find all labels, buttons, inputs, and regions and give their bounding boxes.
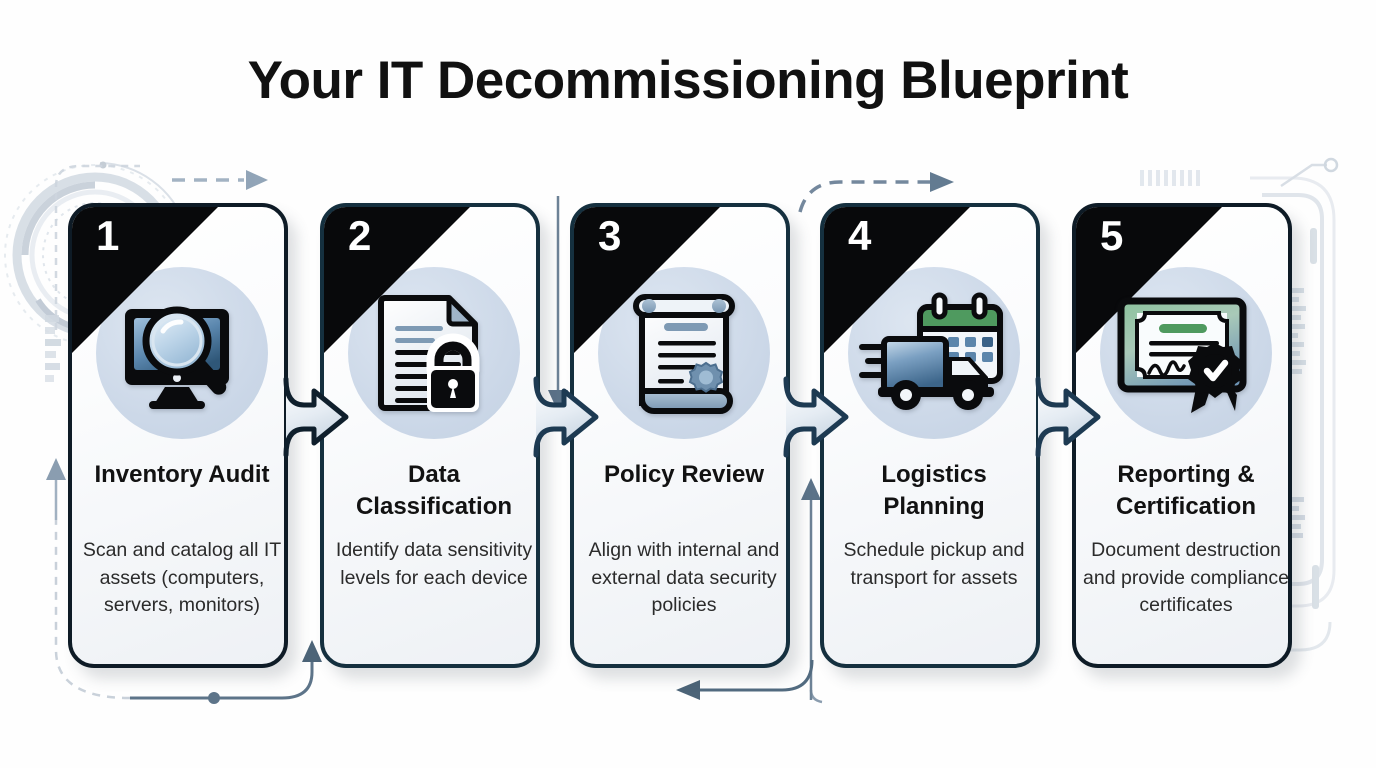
scroll-seal-icon xyxy=(620,291,748,417)
step-card-1[interactable]: 1 Inventory Audit Scan and catalog all I… xyxy=(68,203,288,668)
arrow-step1-to-step2 xyxy=(282,375,352,459)
monitor-magnifier-icon xyxy=(117,295,247,413)
step-3-number: 3 xyxy=(598,215,621,257)
steps-container: 1 Inventory Audit Scan and catalog all I… xyxy=(0,0,1376,768)
step-3-description: Align with internal and external data se… xyxy=(578,537,790,620)
step-1-title: Inventory Audit xyxy=(78,459,286,491)
step-card-2[interactable]: 2 Data Classification Identify data sens… xyxy=(320,203,540,668)
arrow-step3-to-step4 xyxy=(782,375,852,459)
step-5-title: Reporting & Certification xyxy=(1082,459,1290,523)
step-card-3[interactable]: 3 Policy Review Align with internal and … xyxy=(570,203,790,668)
step-card-4[interactable]: 4 Logistics Planning Schedule pickup and… xyxy=(820,203,1040,668)
step-2-description: Identify data sensitivity levels for eac… xyxy=(328,537,540,592)
step-5-description: Document destruction and provide complia… xyxy=(1080,537,1292,620)
document-lock-icon xyxy=(371,292,497,416)
step-1-number: 1 xyxy=(96,215,119,257)
truck-calendar-icon xyxy=(858,291,1010,417)
step-card-5[interactable]: 5 Reporting & Certification Document des… xyxy=(1072,203,1292,668)
step-4-title: Logistics Planning xyxy=(830,459,1038,523)
arrow-step2-to-step3 xyxy=(532,375,602,459)
step-1-description: Scan and catalog all IT assets (computer… xyxy=(76,537,288,620)
infographic-canvas: Your IT Decommissioning Blueprint xyxy=(0,0,1376,768)
arrow-step4-to-step5 xyxy=(1034,375,1104,459)
step-2-number: 2 xyxy=(348,215,371,257)
step-5-number: 5 xyxy=(1100,215,1123,257)
step-2-title: Data Classification xyxy=(330,459,538,523)
step-4-number: 4 xyxy=(848,215,871,257)
step-3-title: Policy Review xyxy=(580,459,788,491)
certificate-award-icon xyxy=(1111,291,1261,417)
step-4-description: Schedule pickup and transport for assets xyxy=(828,537,1040,592)
